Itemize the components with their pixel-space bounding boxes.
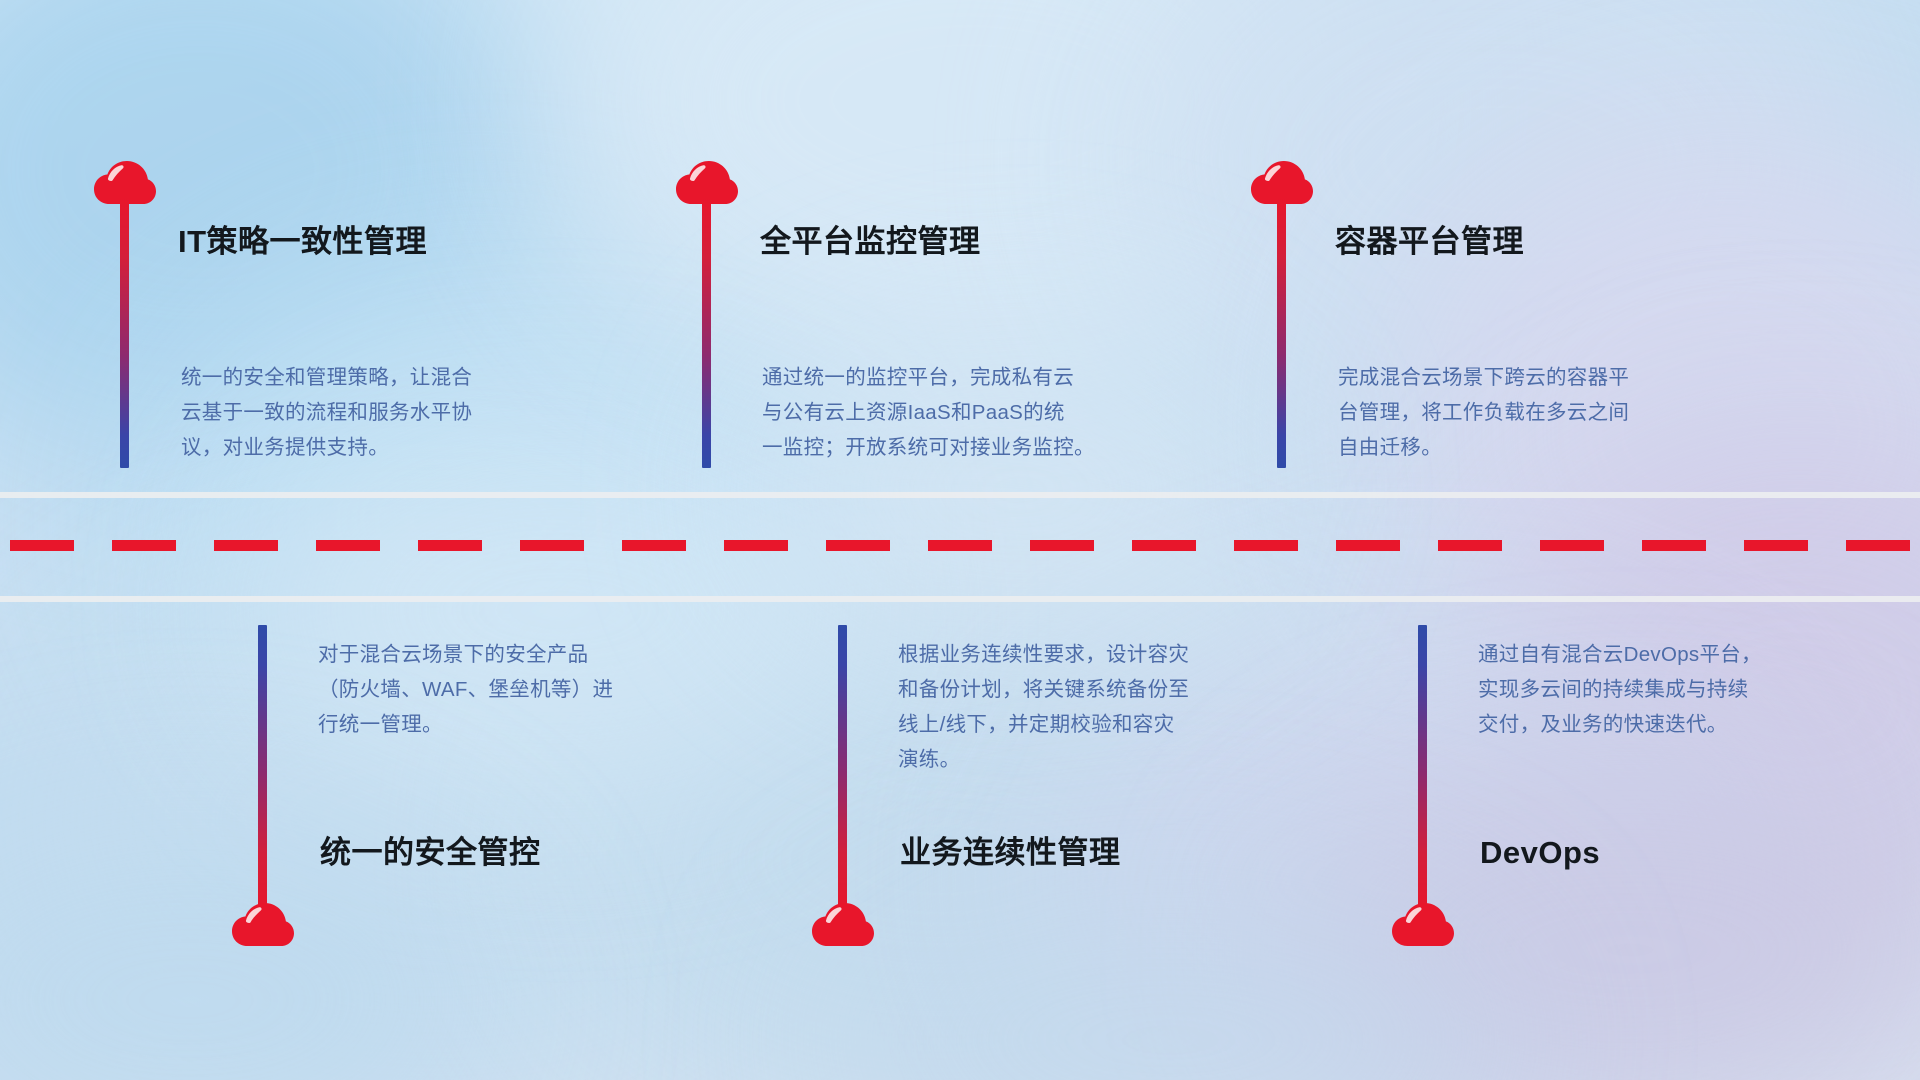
card-body: 对于混合云场景下的安全产品 （防火墙、WAF、堡垒机等）进 行统一管理。 [318, 637, 748, 742]
timeline-stem [838, 625, 847, 912]
timeline-stem [258, 625, 267, 912]
card-title: 全平台监控管理 [760, 226, 981, 257]
timeline-stem [1277, 198, 1286, 468]
timeline-stem [1418, 625, 1427, 912]
divider-band-bottom [0, 596, 1920, 602]
card-body: 统一的安全和管理策略，让混合 云基于一致的流程和服务水平协 议，对业务提供支持。 [181, 360, 611, 465]
card-title: IT策略一致性管理 [178, 226, 427, 257]
timeline-stem [702, 198, 711, 468]
cloud-icon [812, 903, 874, 947]
card-body: 通过自有混合云DevOps平台， 实现多云间的持续集成与持续 交付，及业务的快速… [1478, 637, 1908, 742]
dashed-road-divider [0, 540, 1920, 551]
card-body: 完成混合云场景下跨云的容器平 台管理，将工作负载在多云之间 自由迁移。 [1338, 360, 1768, 465]
timeline-stem [120, 198, 129, 468]
card-body: 根据业务连续性要求，设计容灾 和备份计划，将关键系统备份至 线上/线下，并定期校… [898, 637, 1328, 777]
cloud-icon [1392, 903, 1454, 947]
card-body: 通过统一的监控平台，完成私有云 与公有云上资源IaaS和PaaS的统 一监控；开… [762, 360, 1212, 465]
card-title: 统一的安全管控 [320, 837, 541, 868]
infographic-canvas: IT策略一致性管理 统一的安全和管理策略，让混合 云基于一致的流程和服务水平协 … [0, 0, 1920, 1080]
card-title: 业务连续性管理 [900, 837, 1121, 868]
card-title: 容器平台管理 [1335, 226, 1524, 257]
cloud-icon [232, 903, 294, 947]
card-title: DevOps [1480, 837, 1600, 868]
divider-band-top [0, 492, 1920, 498]
